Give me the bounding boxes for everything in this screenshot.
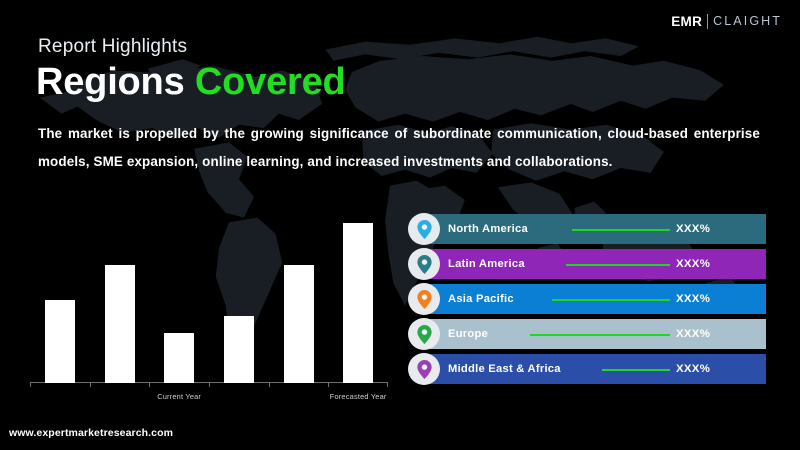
legend-row[interactable]: North AmericaXXX% [408, 214, 766, 244]
region-legend: North AmericaXXX%Latin AmericaXXX%Asia P… [408, 214, 766, 389]
legend-region-label: Europe [448, 319, 488, 349]
legend-row[interactable]: Middle East & AfricaXXX% [408, 354, 766, 384]
logo-divider [707, 14, 708, 29]
chart-bar [224, 316, 254, 383]
map-pin-icon [408, 283, 440, 315]
logo-emr-text: EMR [671, 14, 702, 29]
legend-region-label: Middle East & Africa [448, 354, 561, 384]
bar-chart: Current YearForecasted Year [30, 200, 400, 405]
legend-connector-line [530, 334, 670, 336]
legend-region-label: North America [448, 214, 528, 244]
legend-connector-line [602, 369, 670, 371]
chart-axis-tick [149, 383, 150, 387]
brand-logo: EMR CLAIGHT [671, 10, 782, 32]
legend-percent-value: XXX% [676, 214, 710, 244]
slide-canvas: EMR CLAIGHT Report Highlights Regions Co… [0, 0, 800, 450]
map-pin-icon [408, 353, 440, 385]
legend-percent-value: XXX% [676, 354, 710, 384]
chart-x-label: Forecasted Year [330, 392, 387, 401]
page-title-white: Regions [36, 61, 185, 103]
page-title-green: Covered [195, 61, 346, 103]
logo-claight-text: CLAIGHT [713, 14, 782, 28]
chart-axis-tick [30, 383, 31, 387]
chart-axis-tick [209, 383, 210, 387]
chart-bar [343, 223, 373, 383]
kicker-text: Report Highlights [38, 36, 187, 58]
chart-axis-tick [328, 383, 329, 387]
legend-percent-value: XXX% [676, 249, 710, 279]
chart-axis-tick [387, 383, 388, 387]
legend-region-label: Latin America [448, 249, 525, 279]
legend-row[interactable]: Latin AmericaXXX% [408, 249, 766, 279]
chart-bar [45, 300, 75, 383]
legend-row[interactable]: EuropeXXX% [408, 319, 766, 349]
chart-bar [105, 265, 135, 383]
chart-axis-tick [269, 383, 270, 387]
legend-connector-line [566, 264, 670, 266]
chart-bar [164, 333, 194, 383]
legend-percent-value: XXX% [676, 319, 710, 349]
chart-axis-tick [90, 383, 91, 387]
legend-percent-value: XXX% [676, 284, 710, 314]
legend-connector-line [572, 229, 670, 231]
chart-bar [284, 265, 314, 383]
legend-connector-line [552, 299, 670, 301]
map-pin-icon [408, 213, 440, 245]
footer-url: www.expertmarketresearch.com [9, 427, 173, 439]
chart-x-label: Current Year [157, 392, 201, 401]
legend-row[interactable]: Asia PacificXXX% [408, 284, 766, 314]
map-pin-icon [408, 248, 440, 280]
legend-region-label: Asia Pacific [448, 284, 514, 314]
map-pin-icon [408, 318, 440, 350]
description-paragraph: The market is propelled by the growing s… [38, 120, 760, 176]
page-title: Regions Covered [36, 63, 346, 101]
